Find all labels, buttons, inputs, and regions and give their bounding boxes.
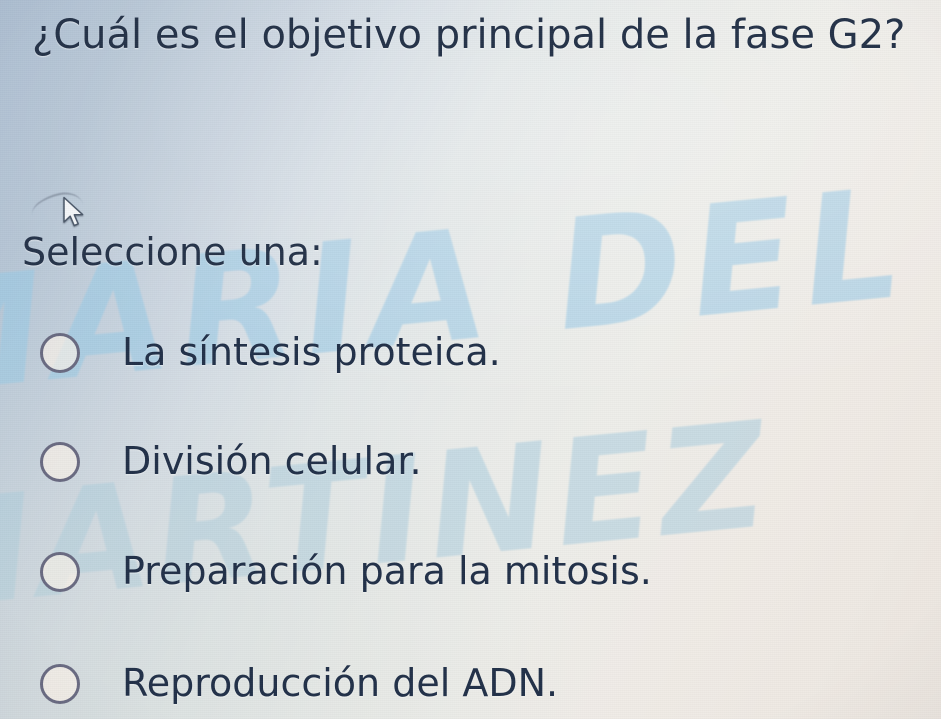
answer-option-3[interactable]: Reproducción del ADN.	[40, 660, 558, 708]
question-text: ¿Cuál es el objetivo principal de la fas…	[32, 12, 905, 58]
radio-button-icon-1[interactable]	[40, 442, 80, 482]
answer-option-label-2: Preparación para la mitosis.	[122, 551, 652, 593]
answer-option-1[interactable]: División celular.	[40, 438, 422, 486]
select-one-instruction: Seleccione una:	[22, 230, 323, 274]
radio-button-icon-0[interactable]	[40, 333, 80, 373]
answer-option-0[interactable]: La síntesis proteica.	[40, 329, 501, 377]
radio-button-icon-2[interactable]	[40, 552, 80, 592]
quiz-screen-photo: MARIA DEL MARTINEZ ¿Cuál es el objetivo …	[0, 0, 941, 719]
answer-option-label-1: División celular.	[122, 441, 422, 483]
answer-option-2[interactable]: Preparación para la mitosis.	[40, 548, 652, 596]
quiz-content: ¿Cuál es el objetivo principal de la fas…	[0, 0, 941, 719]
answer-option-label-0: La síntesis proteica.	[122, 332, 501, 374]
radio-button-icon-3[interactable]	[40, 664, 80, 704]
answer-option-label-3: Reproducción del ADN.	[122, 663, 558, 705]
